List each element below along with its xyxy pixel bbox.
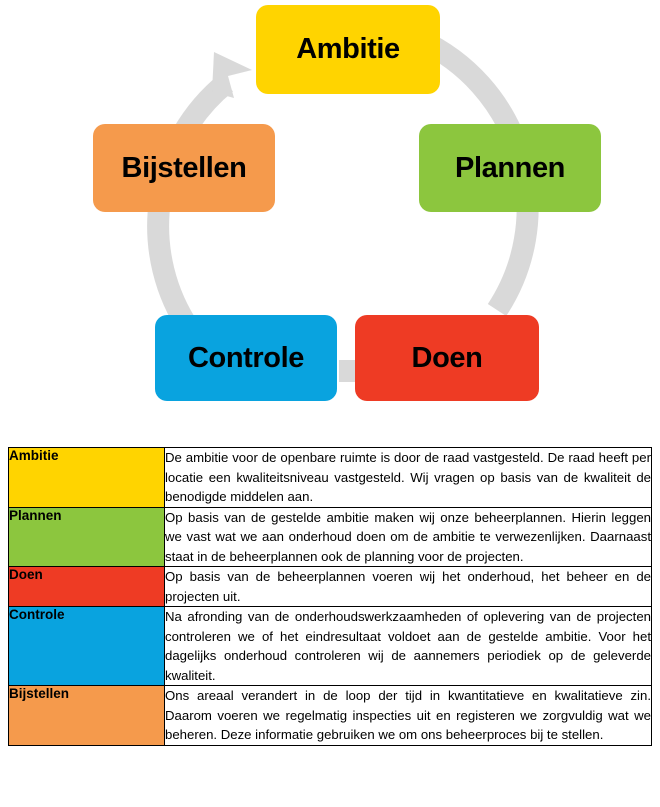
table-row: Bijstellen Ons areaal verandert in de lo… bbox=[9, 686, 652, 746]
table-cell-description: De ambitie voor de openbare ruimte is do… bbox=[165, 448, 652, 508]
table-row: Ambitie De ambitie voor de openbare ruim… bbox=[9, 448, 652, 508]
table-row: Doen Op basis van de beheerplannen voere… bbox=[9, 567, 652, 607]
table-cell-description: Ons areaal verandert in de loop der tijd… bbox=[165, 686, 652, 746]
table-cell-description: Na afronding van de onderhoudswerkzaamhe… bbox=[165, 607, 652, 686]
table-cell-description: Op basis van de beheerplannen voeren wij… bbox=[165, 567, 652, 607]
cycle-node-doen: Doen bbox=[355, 315, 539, 401]
cycle-node-plannen: Plannen bbox=[419, 124, 601, 212]
cycle-node-doen-label: Doen bbox=[412, 344, 483, 373]
table-cell-name: Bijstellen bbox=[9, 686, 165, 746]
ring-connector-block bbox=[339, 360, 355, 382]
table-cell-name: Ambitie bbox=[9, 448, 165, 508]
table-cell-description: Op basis van de gestelde ambitie maken w… bbox=[165, 507, 652, 567]
cycle-node-bijstellen: Bijstellen bbox=[93, 124, 275, 212]
process-description-table: Ambitie De ambitie voor de openbare ruim… bbox=[8, 447, 652, 746]
table-row: Plannen Op basis van de gestelde ambitie… bbox=[9, 507, 652, 567]
table-cell-name: Controle bbox=[9, 607, 165, 686]
cycle-node-bijstellen-label: Bijstellen bbox=[122, 154, 247, 183]
cycle-node-plannen-label: Plannen bbox=[455, 154, 565, 183]
ring-arrowhead-icon bbox=[212, 52, 252, 98]
cycle-node-ambitie: Ambitie bbox=[256, 5, 440, 94]
table-cell-name: Doen bbox=[9, 567, 165, 607]
cycle-node-controle-label: Controle bbox=[188, 344, 304, 373]
table-row: Controle Na afronding van de onderhoudsw… bbox=[9, 607, 652, 686]
table-cell-name: Plannen bbox=[9, 507, 165, 567]
cycle-node-controle: Controle bbox=[155, 315, 337, 401]
cycle-diagram: Ambitie Plannen Doen Controle Bijstellen bbox=[0, 0, 660, 430]
cycle-node-ambitie-label: Ambitie bbox=[296, 35, 400, 64]
